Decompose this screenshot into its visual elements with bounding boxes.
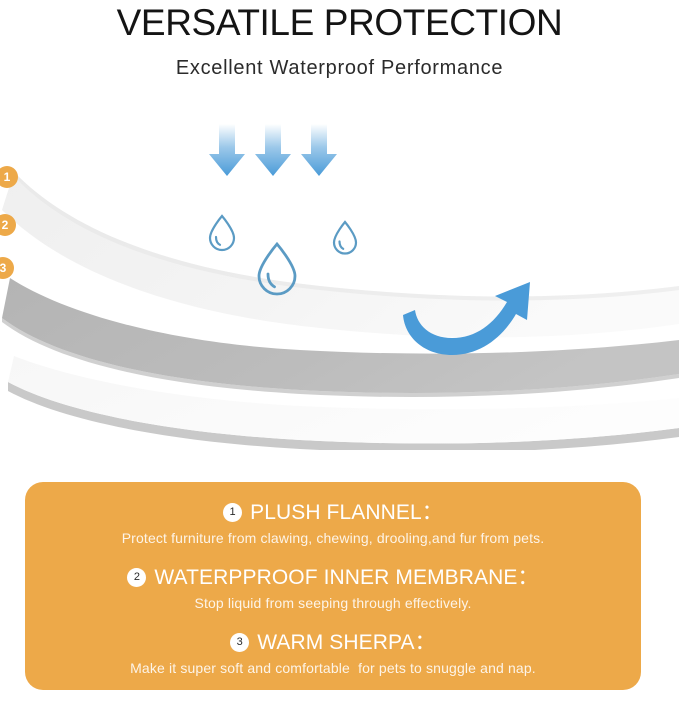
- droplet-icon: [334, 222, 356, 254]
- feature-description: Make it super soft and comfortable for p…: [25, 659, 641, 678]
- layer-diagram: 1 2 3: [0, 110, 679, 450]
- feature-badge-3: 3: [230, 633, 249, 652]
- feature-description: Protect furniture from clawing, chewing,…: [25, 529, 641, 548]
- feature-heading-row: 1 PLUSH FLANNEL：: [25, 500, 641, 525]
- page-subtitle: Excellent Waterproof Performance: [0, 44, 679, 80]
- arrow-down-icon: [301, 124, 337, 176]
- feature-badge-2: 2: [127, 568, 146, 587]
- water-arrows-down: [209, 124, 337, 176]
- feature-item: 2 WATERPPROOF INNER MEMBRANE： Stop liqui…: [25, 565, 641, 613]
- feature-heading-row: 2 WATERPPROOF INNER MEMBRANE：: [25, 565, 641, 590]
- feature-heading-row: 3 WARM SHERPA：: [25, 630, 641, 655]
- feature-title: WARM SHERPA：: [257, 630, 436, 655]
- feature-item: 1 PLUSH FLANNEL： Protect furniture from …: [25, 500, 641, 548]
- droplet-icon: [210, 216, 234, 250]
- arrow-down-icon: [255, 124, 291, 176]
- feature-title: WATERPPROOF INNER MEMBRANE：: [154, 565, 538, 590]
- page-title: VERSATILE PROTECTION: [0, 0, 679, 44]
- feature-item: 3 WARM SHERPA： Make it super soft and co…: [25, 630, 641, 678]
- feature-panel: 1 PLUSH FLANNEL： Protect furniture from …: [25, 482, 641, 690]
- feature-description: Stop liquid from seeping through effecti…: [25, 594, 641, 613]
- layer-diagram-svg: [0, 110, 679, 450]
- header: VERSATILE PROTECTION Excellent Waterproo…: [0, 0, 679, 80]
- layer-flannel: [2, 172, 679, 337]
- arrow-down-icon: [209, 124, 245, 176]
- feature-badge-1: 1: [223, 503, 242, 522]
- feature-title: PLUSH FLANNEL：: [250, 500, 443, 525]
